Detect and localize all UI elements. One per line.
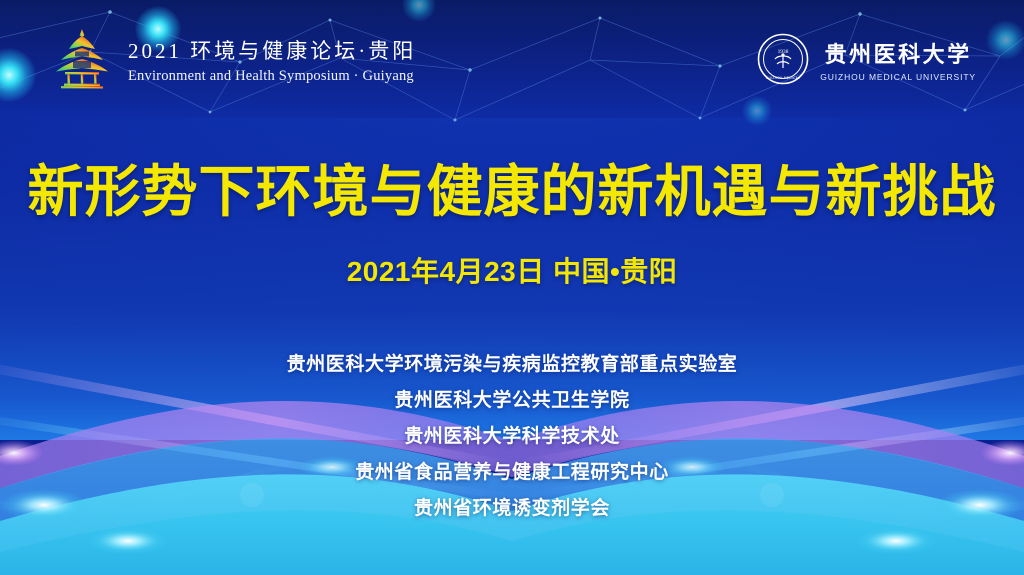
- organizer-item: 贵州医科大学科学技术处: [404, 421, 620, 448]
- organizer-item: 贵州医科大学公共卫生学院: [394, 385, 629, 412]
- poster-content: 新形势下环境与健康的新机遇与新挑战 2021年4月23日 中国•贵阳 贵州医科大…: [0, 0, 1024, 575]
- main-title: 新形势下环境与健康的新机遇与新挑战: [28, 162, 997, 222]
- organizer-item: 贵州省环境诱变剂学会: [414, 493, 610, 520]
- organizer-item: 贵州医科大学环境污染与疾病监控教育部重点实验室: [287, 349, 738, 376]
- date-location: 2021年4月23日 中国•贵阳: [347, 250, 678, 290]
- organizer-list: 贵州医科大学环境污染与疾病监控教育部重点实验室 贵州医科大学公共卫生学院 贵州医…: [287, 349, 738, 520]
- conference-poster: 2021 环境与健康论坛·贵阳 Environment and Health S…: [0, 0, 1024, 575]
- organizer-item: 贵州省食品营养与健康工程研究中心: [355, 457, 669, 484]
